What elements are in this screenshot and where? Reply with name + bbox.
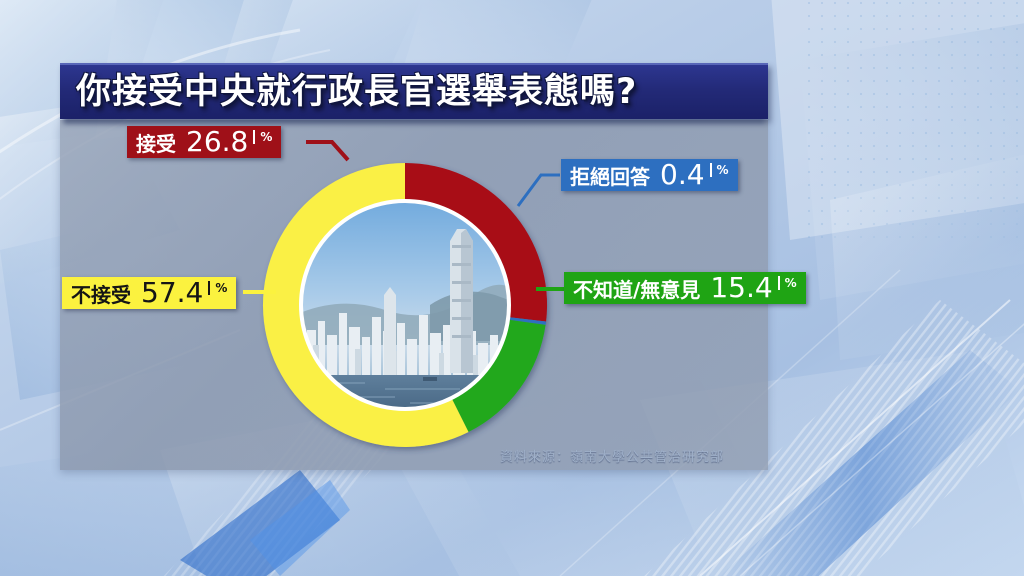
page-title: 你接受中央就行政長官選舉表態嗎? [60,75,637,110]
label-refuse-answer-unit: % [710,163,729,177]
source-attribution: 資料來源：嶺南大學公共管治研究部 [500,446,724,465]
label-refuse-answer[interactable]: 拒絕回答 0.4 % [561,159,738,191]
label-dont-know[interactable]: 不知道/無意見 15.4 % [564,272,806,304]
label-not-accept-unit: % [208,281,227,295]
label-accept[interactable]: 接受 26.8 % [127,126,281,158]
label-refuse-answer-name: 拒絕回答 [570,161,650,190]
label-not-accept[interactable]: 不接受 57.4 % [62,277,236,309]
label-accept-unit: % [253,130,272,144]
label-dont-know-unit: % [778,276,797,290]
label-dont-know-value: 15.4 [710,274,772,302]
label-not-accept-value: 57.4 [141,279,203,307]
label-refuse-answer-value: 0.4 [660,161,705,189]
donut-chart [245,145,565,465]
label-not-accept-name: 不接受 [71,279,131,308]
label-accept-value: 26.8 [186,128,248,156]
title-bar: 你接受中央就行政長官選舉表態嗎? [60,63,768,119]
label-accept-name: 接受 [136,128,176,157]
label-dont-know-name: 不知道/無意見 [573,274,700,303]
